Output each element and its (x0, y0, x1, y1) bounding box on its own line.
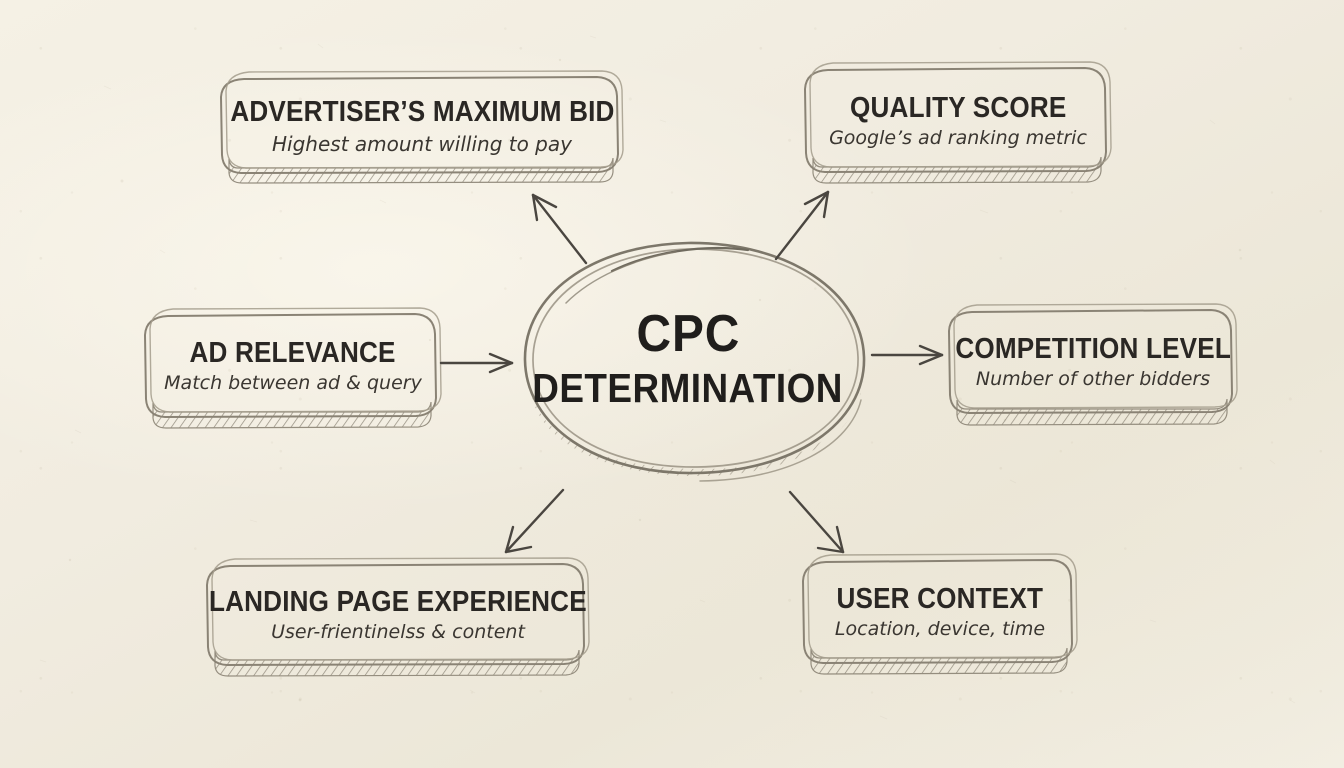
node-subtitle: Location, device, time (835, 619, 1045, 640)
node-landing-page-experience[interactable]: LANDING PAGE EXPERIENCE User-frientinels… (214, 566, 582, 664)
node-competition-level[interactable]: COMPETITION LEVEL Number of other bidder… (956, 310, 1230, 414)
node-title: COMPETITION LEVEL (955, 334, 1231, 364)
node-title: QUALITY SCORE (850, 93, 1066, 123)
node-subtitle: Google’s ad ranking metric (829, 128, 1087, 149)
center-title-line1: CPC (636, 308, 740, 360)
node-ad-relevance[interactable]: AD RELEVANCE Match between ad & query (152, 316, 434, 416)
node-subtitle: Match between ad & query (164, 373, 422, 394)
arrow-center-to-competition-level (872, 346, 942, 364)
center-title-line2: DETERMINATION (533, 366, 844, 411)
node-subtitle: User-frientinelss & content (271, 622, 525, 643)
node-title: LANDING PAGE EXPERIENCE (209, 587, 587, 617)
node-subtitle: Highest amount willing to pay (272, 133, 572, 155)
diagram-canvas: CPC DETERMINATION ADVERTISER’S MAXIMUM B… (0, 0, 1344, 768)
node-subtitle: Number of other bidders (976, 369, 1210, 390)
arrow-center-to-user-context (790, 492, 843, 552)
center-node-cpc-determination[interactable]: CPC DETERMINATION (528, 248, 848, 472)
node-title: AD RELEVANCE (190, 338, 396, 368)
arrow-ad-relevance-to-center (441, 354, 512, 372)
node-title: ADVERTISER’S MAXIMUM BID (230, 97, 614, 127)
arrow-center-to-landing-page-experience (506, 490, 563, 552)
node-user-context[interactable]: USER CONTEXT Location, device, time (810, 562, 1070, 662)
node-advertisers-maximum-bid[interactable]: ADVERTISER’S MAXIMUM BID Highest amount … (228, 80, 616, 172)
node-title: USER CONTEXT (837, 584, 1044, 614)
node-quality-score[interactable]: QUALITY SCORE Google’s ad ranking metric (812, 70, 1104, 172)
